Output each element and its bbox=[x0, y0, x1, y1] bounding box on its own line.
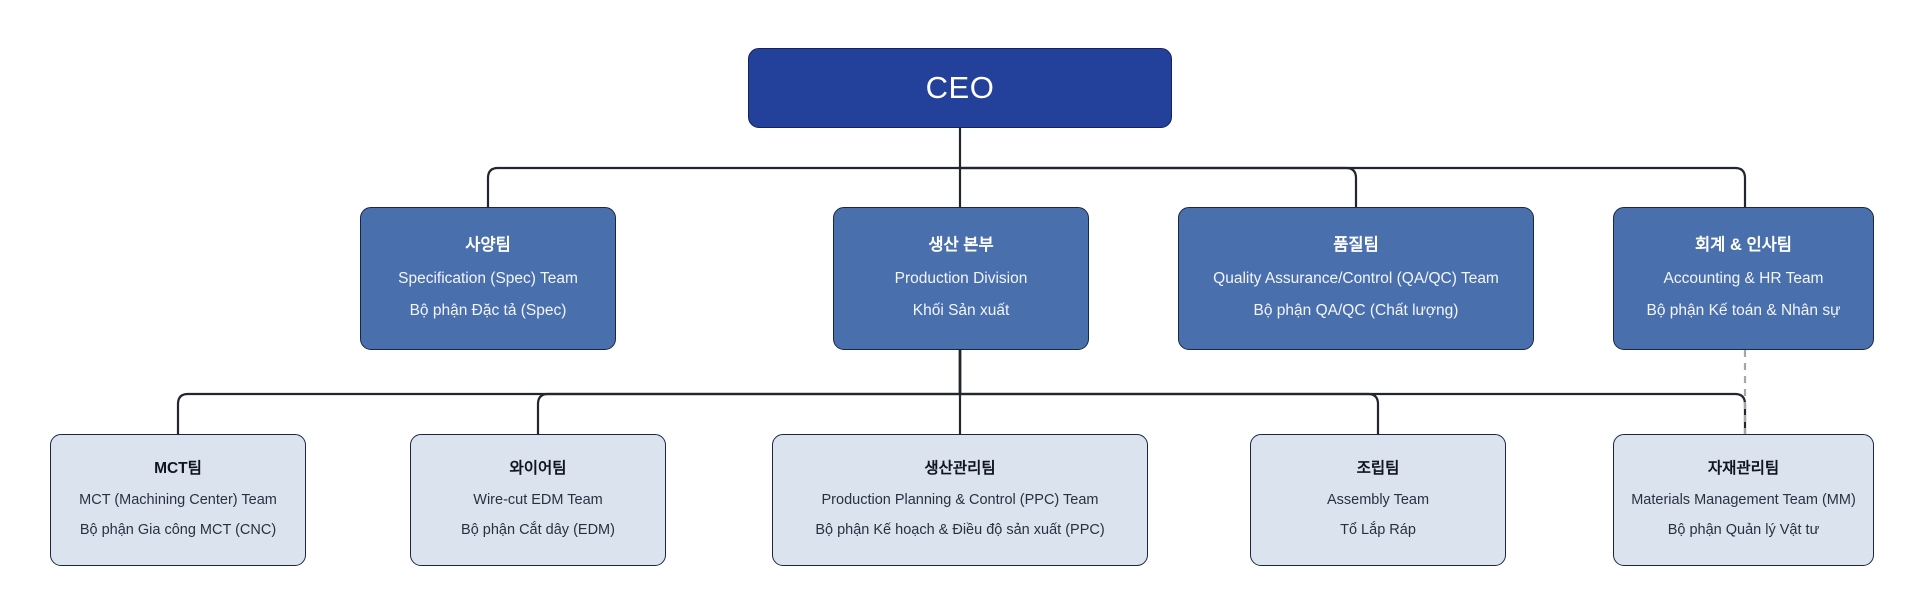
node-assembly-english: Assembly Team bbox=[1327, 492, 1429, 509]
node-spec-title: 사양팀 bbox=[465, 236, 511, 256]
node-production-english: Production Division bbox=[895, 270, 1028, 289]
node-assembly-vietnamese: Tổ Lắp Ráp bbox=[1340, 522, 1416, 539]
node-production[interactable]: 생산 본부 Production Division Khối Sản xuất bbox=[833, 207, 1089, 350]
org-chart: CEO 사양팀 Specification (Spec) Team Bộ phậ… bbox=[0, 0, 1920, 609]
node-wirecut-vietnamese: Bộ phận Cắt dây (EDM) bbox=[461, 522, 615, 539]
node-wirecut[interactable]: 와이어팀 Wire-cut EDM Team Bộ phận Cắt dây (… bbox=[410, 434, 666, 566]
node-ppc-title: 생산관리팀 bbox=[924, 460, 995, 479]
node-assembly-title: 조립팀 bbox=[1357, 460, 1400, 479]
node-ppc[interactable]: 생산관리팀 Production Planning & Control (PPC… bbox=[772, 434, 1148, 566]
node-spec-english: Specification (Spec) Team bbox=[398, 270, 578, 289]
node-mct-english: MCT (Machining Center) Team bbox=[79, 492, 277, 509]
node-ppc-vietnamese: Bộ phận Kế hoạch & Điều độ sản xuất (PPC… bbox=[815, 522, 1104, 539]
edge-production-assembly bbox=[960, 394, 1378, 434]
node-quality-title: 품질팀 bbox=[1333, 236, 1379, 256]
node-quality-english: Quality Assurance/Control (QA/QC) Team bbox=[1213, 270, 1499, 289]
node-quality-vietnamese: Bộ phận QA/QC (Chất lượng) bbox=[1254, 302, 1459, 321]
node-accounting-hr[interactable]: 회계 & 인사팀 Accounting & HR Team Bộ phận Kế… bbox=[1613, 207, 1874, 350]
node-accounting-hr-title: 회계 & 인사팀 bbox=[1695, 236, 1792, 256]
node-ppc-english: Production Planning & Control (PPC) Team bbox=[822, 492, 1099, 509]
edge-production-materials bbox=[960, 394, 1745, 434]
node-spec-vietnamese: Bộ phận Đặc tả (Spec) bbox=[410, 302, 567, 321]
node-wirecut-english: Wire-cut EDM Team bbox=[473, 492, 602, 509]
node-wirecut-title: 와이어팀 bbox=[509, 460, 566, 479]
node-production-vietnamese: Khối Sản xuất bbox=[913, 302, 1010, 321]
node-ceo[interactable]: CEO bbox=[748, 48, 1172, 128]
edge-production-wirecut bbox=[538, 394, 960, 434]
node-materials-vietnamese: Bộ phận Quản lý Vật tư bbox=[1668, 522, 1820, 539]
edge-ceo-quality bbox=[960, 168, 1356, 207]
edge-ceo-accounting bbox=[960, 168, 1745, 207]
node-mct[interactable]: MCT팀 MCT (Machining Center) Team Bộ phận… bbox=[50, 434, 306, 566]
node-materials-title: 자재관리팀 bbox=[1708, 460, 1779, 479]
node-materials[interactable]: 자재관리팀 Materials Management Team (MM) Bộ … bbox=[1613, 434, 1874, 566]
node-production-title: 생산 본부 bbox=[928, 236, 993, 256]
node-mct-vietnamese: Bộ phận Gia công MCT (CNC) bbox=[80, 522, 276, 539]
edge-ceo-spec bbox=[488, 168, 960, 207]
node-assembly[interactable]: 조립팀 Assembly Team Tổ Lắp Ráp bbox=[1250, 434, 1506, 566]
node-ceo-title: CEO bbox=[926, 71, 995, 105]
node-materials-english: Materials Management Team (MM) bbox=[1631, 492, 1856, 509]
node-mct-title: MCT팀 bbox=[154, 460, 202, 479]
edge-production-mct bbox=[178, 394, 960, 434]
node-accounting-hr-vietnamese: Bộ phận Kế toán & Nhân sự bbox=[1647, 302, 1841, 321]
node-spec[interactable]: 사양팀 Specification (Spec) Team Bộ phận Đặ… bbox=[360, 207, 616, 350]
node-accounting-hr-english: Accounting & HR Team bbox=[1664, 270, 1824, 289]
node-quality[interactable]: 품질팀 Quality Assurance/Control (QA/QC) Te… bbox=[1178, 207, 1534, 350]
